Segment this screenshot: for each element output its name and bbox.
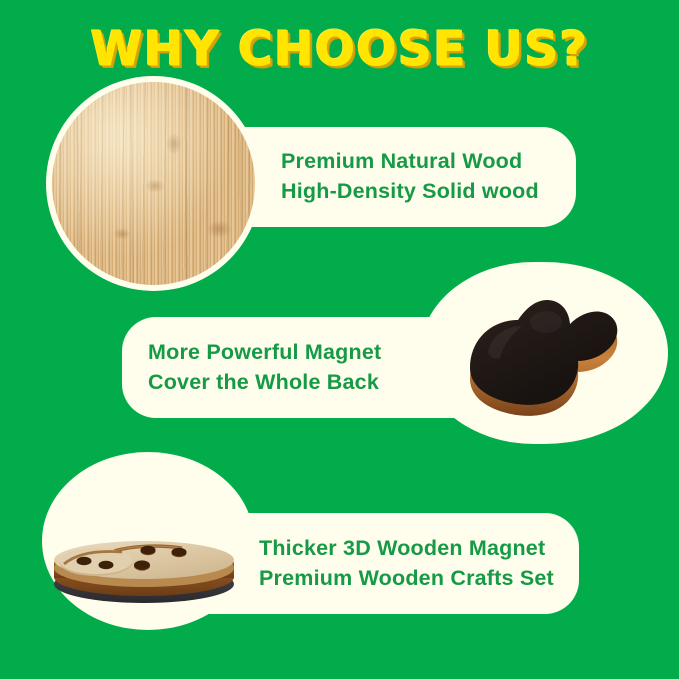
feature-card-wood-line2: High-Density Solid wood [281,177,539,207]
feature-card-wood-text: Premium Natural Wood High-Density Solid … [281,147,539,206]
layered-wooden-coaster-photo [38,518,246,608]
black-bunny-magnet-photo [448,282,638,427]
feature-card-magnet-line2: Cover the Whole Back [148,368,381,398]
feature-card-thickness-text: Thicker 3D Wooden Magnet Premium Wooden … [259,534,554,593]
feature-card-magnet-line1: More Powerful Magnet [148,338,381,368]
wood-highlight [52,82,255,285]
feature-card-thickness-line2: Premium Wooden Crafts Set [259,564,554,594]
feature-card-thickness-line1: Thicker 3D Wooden Magnet [259,534,554,564]
feature-card-wood-line1: Premium Natural Wood [281,147,539,177]
feature-card-magnet-text: More Powerful Magnet Cover the Whole Bac… [148,338,381,397]
page-title: WHY CHOOSE US? [0,22,679,77]
wood-grain-surface [52,82,255,285]
bamboo-wood-disc-photo [46,76,261,291]
why-choose-us-poster: WHY CHOOSE US? Premium Natural Wood High… [0,0,679,679]
